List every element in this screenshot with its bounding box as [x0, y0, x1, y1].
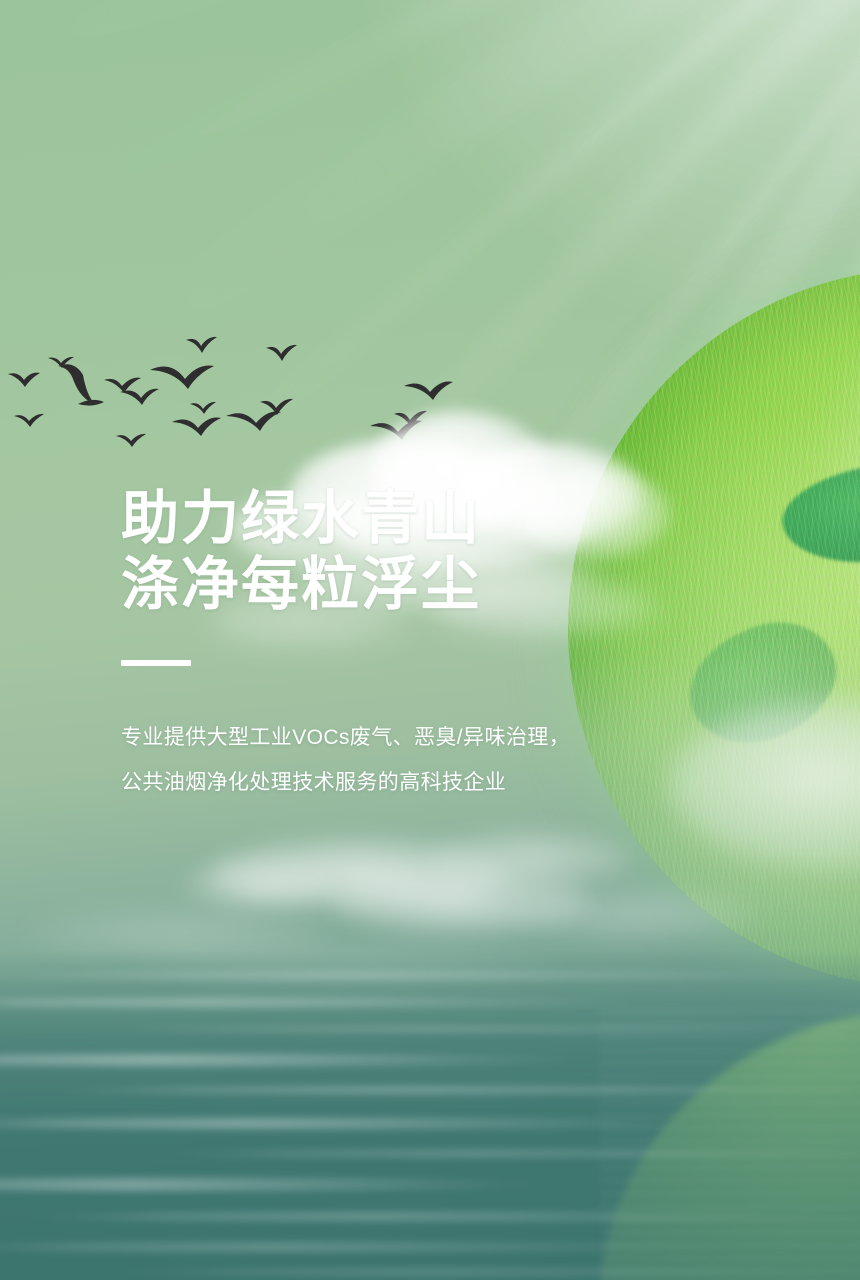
water-wave	[0, 972, 860, 979]
headline-block: 助力绿水青山 涤净每粒浮尘 专业提供大型工业VOCs废气、恶臭/异味治理， 公共…	[121, 486, 681, 804]
water-wave	[0, 998, 654, 1007]
divider-rule	[121, 660, 191, 666]
headline-line-2: 涤净每粒浮尘	[121, 552, 681, 618]
flying-birds-icon	[0, 330, 470, 460]
water-wave	[86, 1026, 860, 1032]
water-wave	[0, 1118, 705, 1129]
water-surface-icon	[0, 950, 860, 1280]
water-wave	[103, 1268, 860, 1276]
water-wave	[0, 1178, 550, 1191]
subtitle-line-2: 公共油烟净化处理技术服务的高科技企业	[121, 763, 681, 804]
poster-banner: 助力绿水青山 涤净每粒浮尘 专业提供大型工业VOCs废气、恶臭/异味治理， 公共…	[0, 0, 860, 1280]
water-wave	[43, 1086, 860, 1094]
water-wave	[0, 1054, 585, 1066]
water-wave	[155, 1150, 860, 1157]
headline-line-1: 助力绿水青山	[121, 486, 681, 552]
subtitle-line-1: 专业提供大型工业VOCs废气、恶臭/异味治理，	[121, 718, 681, 759]
water-wave	[17, 1212, 860, 1221]
water-wave	[0, 1242, 748, 1252]
